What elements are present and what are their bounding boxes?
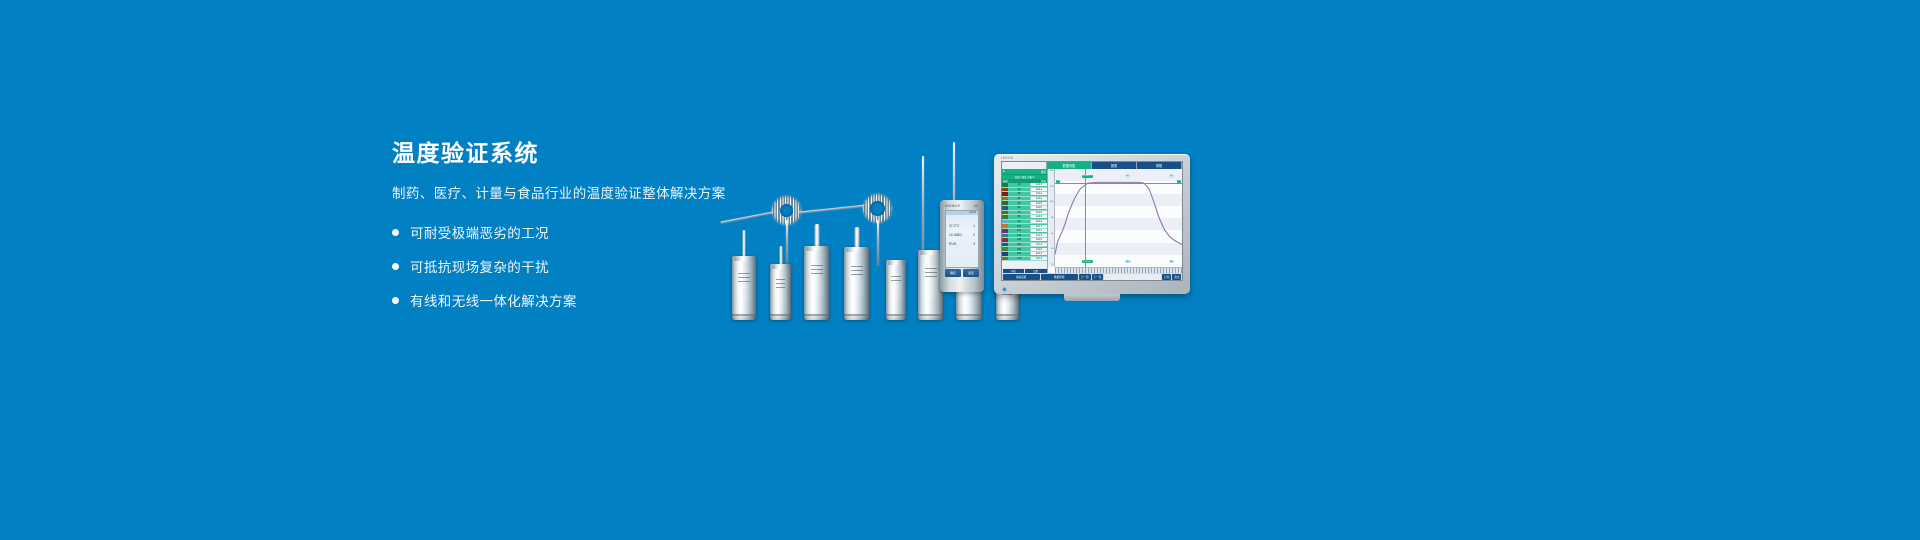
cursor-b-flag: B [1177, 180, 1181, 183]
handheld-clock: 08:30 [970, 211, 979, 215]
channel-name: 17# [1008, 257, 1030, 260]
list-item [804, 246, 829, 320]
monitor-brand-label: INON [1001, 155, 1013, 160]
channel-name: 6# [1008, 206, 1030, 209]
channel-name: 2# [1008, 188, 1030, 191]
list-item [844, 247, 869, 320]
list-item: 10.0MIN 2 [949, 233, 975, 237]
monitor-stand [1064, 294, 1120, 301]
next-page-button[interactable]: 下一页 [1092, 274, 1104, 280]
marker-flag-1: F0 [1125, 175, 1131, 178]
bullet-dot-icon [392, 263, 399, 270]
channel-name: 1# [1008, 183, 1030, 186]
channel-value: 121.5 [1030, 238, 1047, 241]
channel-value: 121.2 [1030, 234, 1047, 237]
channel-name: 12# [1008, 234, 1030, 237]
power-led-icon [1003, 288, 1006, 291]
channel-name: 9# [1008, 220, 1030, 223]
list-item [770, 264, 791, 320]
cursor-time-flag: 10:42:15 [1082, 175, 1094, 178]
reading-label: RUN [949, 242, 956, 246]
table-row[interactable]: 17#121.2 [1002, 257, 1047, 262]
probe-icon [779, 246, 782, 264]
channel-table-body[interactable]: 1#121.32#121.13#121.44#121.25#121.56#121… [1002, 183, 1047, 268]
bullet-dot-icon [392, 229, 399, 236]
start-button[interactable]: 开始 [1003, 269, 1025, 273]
logger-label [737, 270, 750, 299]
list-item: RUN 3 [949, 242, 975, 246]
y-tick-label: 80 [1051, 217, 1054, 219]
probe-wire [798, 204, 870, 214]
channel-value: 121.4 [1030, 229, 1047, 232]
channel-name: 10# [1008, 225, 1030, 228]
list-item: 37.2°C 1 [949, 224, 975, 228]
probe-icon [814, 224, 819, 246]
feature-label: 可耐受极端恶劣的工况 [410, 222, 549, 242]
marker-flag-3: A0 [1125, 260, 1131, 263]
cursor-a-flag: A [1056, 180, 1060, 183]
coil-hole [870, 201, 885, 216]
logger-label [850, 263, 864, 297]
list-item [732, 256, 756, 320]
y-tick-label: 140 [1050, 170, 1054, 172]
y-tick-label: 60 [1051, 233, 1054, 235]
y-tick-label: 120 [1050, 186, 1054, 188]
software-main: ■ 通道 温度与湿度 采集中 通道 数值 1#121.32#121.13#121… [1002, 169, 1182, 273]
tab-help[interactable]: 帮助 [1137, 162, 1182, 169]
logger-cap [920, 250, 941, 255]
channel-value: 121.2 [1030, 257, 1047, 260]
channel-value: 121.3 [1030, 183, 1047, 186]
channel-value: 121.3 [1030, 243, 1047, 246]
panel-header-right: 通道 [1041, 170, 1046, 174]
channel-value: 121.1 [1030, 188, 1047, 191]
chart-y-axis: 14012010080604020 [1048, 169, 1055, 267]
tab-report[interactable]: 报表 [1092, 162, 1137, 169]
logger-body [886, 260, 906, 320]
chart-cursor-horizontal[interactable] [1055, 183, 1182, 184]
channel-name: 4# [1008, 197, 1030, 200]
handheld-reading-list: 37.2°C 1 10.0MIN 2 RUN 3 [946, 215, 978, 246]
logger-cap [734, 256, 754, 261]
logger-label [810, 262, 824, 296]
logger-label [924, 265, 938, 297]
handheld-confirm-button[interactable]: 确定 [945, 269, 961, 277]
channel-name: 16# [1008, 252, 1030, 255]
reading-label: 10.0MIN [949, 233, 962, 237]
channel-value: 121.6 [1030, 211, 1047, 214]
channel-panel: ■ 通道 温度与湿度 采集中 通道 数值 1#121.32#121.13#121… [1002, 169, 1048, 273]
exit-button[interactable]: 退出 [1172, 274, 1181, 280]
channel-value: 121.4 [1030, 252, 1047, 255]
y-tick-label: 20 [1051, 264, 1054, 266]
channel-name: 3# [1008, 192, 1030, 195]
tab-spacer [1002, 162, 1047, 169]
coil-hole [780, 204, 793, 217]
probe-wire [786, 220, 788, 264]
logger-cap [888, 260, 905, 265]
channel-value: 121.4 [1030, 192, 1047, 195]
print-button[interactable]: 打印 [1162, 274, 1171, 280]
channel-value: 121.2 [1030, 197, 1047, 200]
bullet-dot-icon [392, 297, 399, 304]
system-settings-button[interactable]: 系统设置 [1003, 274, 1040, 280]
channel-name: 5# [1008, 202, 1030, 205]
logger-body [844, 247, 869, 320]
channel-value: 121.2 [1030, 215, 1047, 218]
prev-page-button[interactable]: 上一页 [1079, 274, 1091, 280]
probe-icon [854, 227, 859, 247]
logger-body [770, 264, 791, 320]
toolbar-spacer [1104, 274, 1161, 280]
logger-label [890, 273, 901, 301]
probe-wire [720, 210, 779, 223]
list-item [886, 260, 906, 320]
software-screen[interactable]: 数据采集 报表 帮助 ■ 通道 温度与湿度 采集中 通道 数值 1#121. [1001, 161, 1183, 281]
settings-button[interactable]: 设置 [1025, 269, 1047, 273]
channel-value: 121.0 [1030, 206, 1047, 209]
y-tick-label: 100 [1050, 201, 1054, 203]
data-management-button[interactable]: 数据管理 [1041, 274, 1078, 280]
software-toolbar: 数据采集 报表 帮助 [1002, 162, 1182, 169]
panel-header-left: ■ [1003, 170, 1005, 173]
monitor-bezel: INON 数据采集 报表 帮助 ■ 通道 温度与湿度 采集中 [994, 154, 1190, 294]
probe-wire [877, 220, 879, 266]
channel-value: 121.5 [1030, 202, 1047, 205]
handheld-back-button[interactable]: 返回 [963, 269, 979, 277]
y-tick-label: 40 [1051, 248, 1054, 250]
channel-name: 7# [1008, 211, 1030, 214]
handheld-brand-label: INONIKE [945, 204, 960, 208]
channel-name: 13# [1008, 238, 1030, 241]
hero-banner: 温度验证系统 制药、医疗、计量与食品行业的温度验证整体解决方案 可耐受极端恶劣的… [0, 0, 1920, 540]
reading-label: 37.2°C [949, 224, 959, 228]
channel-name: 14# [1008, 243, 1030, 246]
channel-value: 121.1 [1030, 225, 1047, 228]
probe-icon [743, 230, 746, 256]
channel-value: 121.3 [1030, 220, 1047, 223]
handheld-reader[interactable]: INONIKE M1 08:30 37.2°C 1 10.0MIN 2 RUN … [940, 200, 984, 292]
channel-name: 15# [1008, 248, 1030, 251]
handheld-keypad: 确定 返回 [945, 269, 979, 277]
chart-cursor-vertical[interactable] [1085, 169, 1086, 267]
handheld-screen[interactable]: 08:30 37.2°C 1 10.0MIN 2 RUN 3 [945, 210, 979, 268]
software-bottom-toolbar: 系统设置 数据管理 上一页 下一页 打印 退出 [1002, 273, 1182, 280]
logger-label [775, 276, 787, 302]
chart-plot-area: 10:42:15 121.1°C A B F0 F0 A0 A0 [1055, 169, 1182, 267]
logger-cap [846, 247, 867, 252]
reading-value: 2 [973, 233, 975, 237]
logger-cap [772, 264, 790, 269]
marker-flag-4: A0 [1169, 260, 1175, 263]
reading-value: 1 [973, 224, 975, 228]
logger-body [804, 246, 829, 320]
feature-label: 有线和无线一体化解决方案 [410, 290, 577, 310]
reading-value: 3 [973, 242, 975, 246]
chart-x-axis-scrollbar[interactable] [1055, 267, 1182, 273]
feature-label: 可抵抗现场复杂的干扰 [410, 256, 549, 276]
handheld-brand-row: INONIKE M1 [943, 203, 981, 208]
handheld-model-label: M1 [974, 204, 979, 208]
temperature-chart[interactable]: 14012010080604020 10:42:15 121.1°C A B F… [1048, 169, 1182, 273]
logger-body [732, 256, 756, 320]
channel-name: 11# [1008, 229, 1030, 232]
logger-cap [806, 246, 827, 251]
channel-name: 8# [1008, 215, 1030, 218]
cursor-value-flag: 121.1°C [1082, 260, 1093, 263]
channel-value: 121.0 [1030, 248, 1047, 251]
marker-flag-2: F0 [1169, 175, 1175, 178]
tab-data-acquisition[interactable]: 数据采集 [1047, 162, 1092, 169]
